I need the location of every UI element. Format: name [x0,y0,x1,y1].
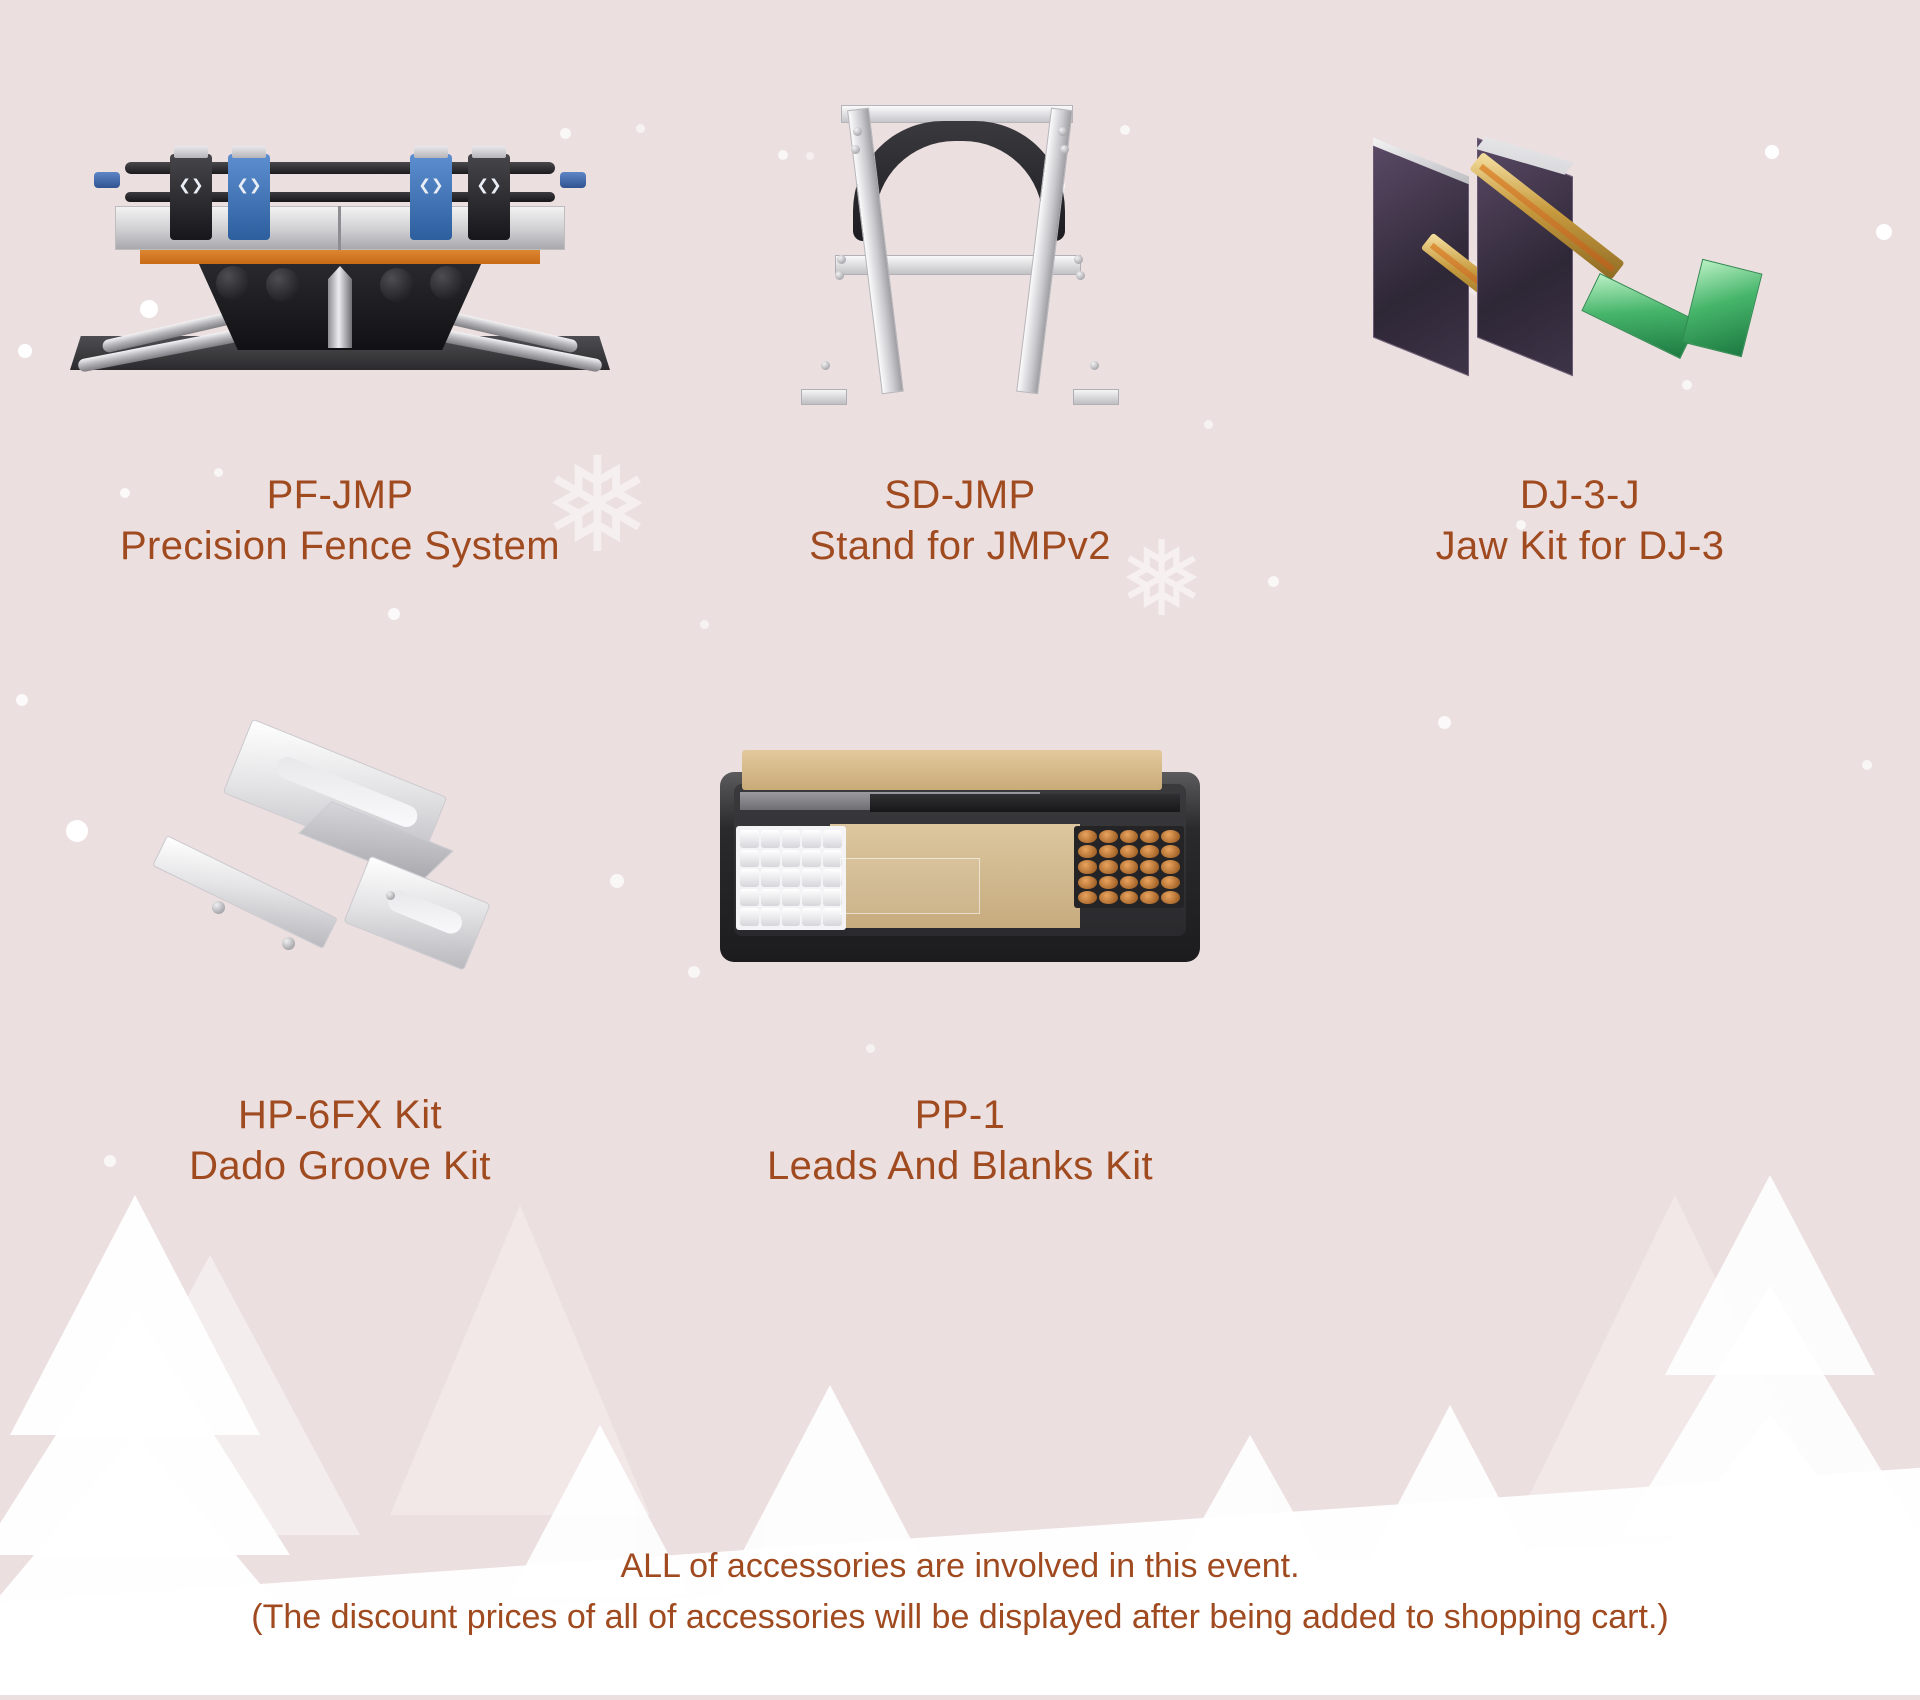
product-name: Precision Fence System [120,521,560,572]
product-caption: DJ-3-J Jaw Kit for DJ-3 [1436,470,1725,572]
stand-illustration [795,105,1125,405]
fence-clamp-blue: ❮❯ [410,154,452,240]
clamp-tab [472,146,506,158]
dado-groove-kit-illustration [140,725,540,1025]
fence-roller [216,266,250,300]
fence-workpiece [140,248,540,264]
fence-bar-split [338,206,341,250]
product-card-pf-jmp[interactable]: ❮❯ ❮❯ ❮❯ ❮❯ PF-JMP Precision Fence Syste… [30,40,650,660]
stand-foot-right [1073,389,1119,405]
product-image-hp-6fx [30,660,650,1090]
clamp-tab [174,146,208,158]
fence-roller [266,268,300,302]
clamp-arrows-icon: ❮❯ [228,176,270,194]
product-card-hp-6fx[interactable]: HP-6FX Kit Dado Groove Kit [30,660,650,1310]
clamp-arrows-icon: ❮❯ [468,176,510,194]
product-caption: PF-JMP Precision Fence System [120,470,560,572]
product-name: Jaw Kit for DJ-3 [1436,521,1725,572]
product-caption: HP-6FX Kit Dado Groove Kit [189,1090,491,1192]
product-code: SD-JMP [809,470,1111,521]
stand-rivet [1090,361,1099,370]
stand-rivet [1076,271,1085,280]
fence-clamp-dark: ❮❯ [170,154,212,240]
stand-foot-left [801,389,847,405]
stand-rivet [1060,145,1069,154]
fence-clamp-blue: ❮❯ [228,154,270,240]
stand-rivet [821,361,830,370]
hp-bar-screw [282,937,295,950]
fence-roller [430,266,464,300]
product-caption: SD-JMP Stand for JMPv2 [809,470,1111,572]
fence-endcap-right [560,172,586,188]
product-image-pf-jmp: ❮❯ ❮❯ ❮❯ ❮❯ [30,40,650,470]
fence-roller [380,268,414,302]
product-grid: ❮❯ ❮❯ ❮❯ ❮❯ PF-JMP Precision Fence Syste… [0,0,1920,1695]
product-name: Dado Groove Kit [189,1141,491,1192]
pp-wood-lid [742,750,1162,790]
product-code: DJ-3-J [1436,470,1725,521]
fence-endcap-left [94,172,120,188]
product-name: Leads And Blanks Kit [767,1141,1153,1192]
product-card-sd-jmp[interactable]: SD-JMP Stand for JMPv2 [650,40,1270,660]
fence-blade [328,266,352,348]
pp-dark-rail [870,794,1180,812]
footer-note: ALL of accessories are involved in this … [0,1541,1920,1643]
footer-line-1: ALL of accessories are involved in this … [0,1541,1920,1592]
product-name: Stand for JMPv2 [809,521,1111,572]
product-code: PP-1 [767,1090,1153,1141]
stand-rivet [837,255,846,264]
clamp-tab [232,146,266,158]
precision-fence-system-illustration: ❮❯ ❮❯ ❮❯ ❮❯ [70,140,610,370]
pp-brass-ferrules [1074,826,1184,908]
stand-rivet [835,271,844,280]
stand-rivet [853,127,862,136]
jaw-kit-illustration [1365,115,1795,395]
pp-lead-tubes [736,826,846,930]
stand-rivet [1058,127,1067,136]
hp-shoe-screw [386,891,395,900]
product-code: HP-6FX Kit [189,1090,491,1141]
clamp-arrows-icon: ❮❯ [410,176,452,194]
hp-bar [152,835,338,949]
product-code: PF-JMP [120,470,560,521]
fence-clamp-dark: ❮❯ [468,154,510,240]
clamp-tab [414,146,448,158]
jaw-green-block-right [1682,259,1763,357]
product-card-pp-1[interactable]: PP-1 Leads And Blanks Kit [650,660,1270,1310]
product-image-pp-1 [650,660,1270,1090]
product-caption: PP-1 Leads And Blanks Kit [767,1090,1153,1192]
pp-glass-divider [840,858,980,914]
stand-rivet [1074,255,1083,264]
footer-line-2: (The discount prices of all of accessori… [0,1592,1920,1643]
product-image-sd-jmp [650,40,1270,470]
product-grid-empty-cell [1270,660,1890,1310]
jaw-green-block-left [1581,273,1698,359]
clamp-arrows-icon: ❮❯ [170,176,212,194]
product-image-dj-3-j [1270,40,1890,470]
hp-bar-screw [212,901,225,914]
leads-and-blanks-kit-illustration [720,750,1200,1000]
stand-rivet [851,145,860,154]
product-card-dj-3-j[interactable]: DJ-3-J Jaw Kit for DJ-3 [1270,40,1890,660]
